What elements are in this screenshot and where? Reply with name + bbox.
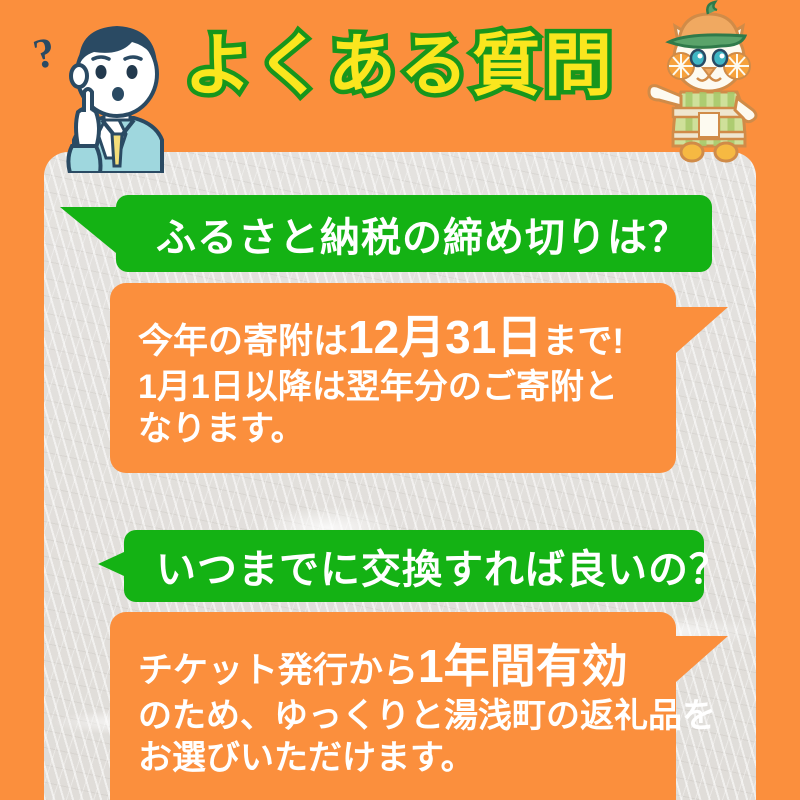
faq-question-banner-1: ふるさと納税の締め切りは？ (116, 195, 712, 272)
faq-answer-box-2: チケット発行から1年間有効 のため、ゆっくりと湯浅町の返礼品を お選びいただけま… (110, 612, 676, 800)
answer-text-segment: チケット発行から (138, 651, 418, 690)
faq-answer-line-1-1: 今年の寄附は12月31日まで! (138, 309, 648, 366)
answer-emphasis-segment: 1年間有効 (418, 640, 628, 692)
faq-answer-box-1: 今年の寄附は12月31日まで! 1月1日以降は翌年分のご寄附と なります。 (110, 283, 676, 473)
faq-answer-line-2-2: のため、ゆっくりと湯浅町の返礼品を (138, 695, 648, 737)
answer-text-segment: 今年の寄附は (138, 322, 348, 361)
faq-answer-line-1-2: 1月1日以降は翌年分のご寄附と (138, 366, 648, 408)
faq-answer-line-1-3: なります。 (138, 408, 648, 450)
faq-question-text-1: ふるさと納税の締め切りは？ (156, 205, 689, 263)
faq-question-text-2: いつまでに交換すれば良いの？ (156, 537, 730, 595)
faq-answer-line-2-1: チケット発行から1年間有効 (138, 638, 648, 695)
answer-tail-right-icon (676, 307, 728, 353)
answer-tail-right-icon (676, 636, 728, 682)
answer-text-segment: まで! (542, 322, 624, 361)
banner-tail-left-icon (60, 207, 116, 253)
faq-answer-line-2-3: お選びいただけます。 (138, 737, 648, 779)
thinking-businessman-illustration: ? (22, 8, 192, 173)
faq-graphic: よくある質問 ? (0, 0, 800, 800)
cat-mascot-illustration (645, 0, 775, 170)
banner-tail-left-icon (98, 552, 124, 576)
faq-question-banner-2: いつまでに交換すれば良いの？ (124, 530, 704, 602)
answer-emphasis-segment: 12月31日 (348, 311, 542, 363)
mascot-svg (645, 0, 775, 170)
